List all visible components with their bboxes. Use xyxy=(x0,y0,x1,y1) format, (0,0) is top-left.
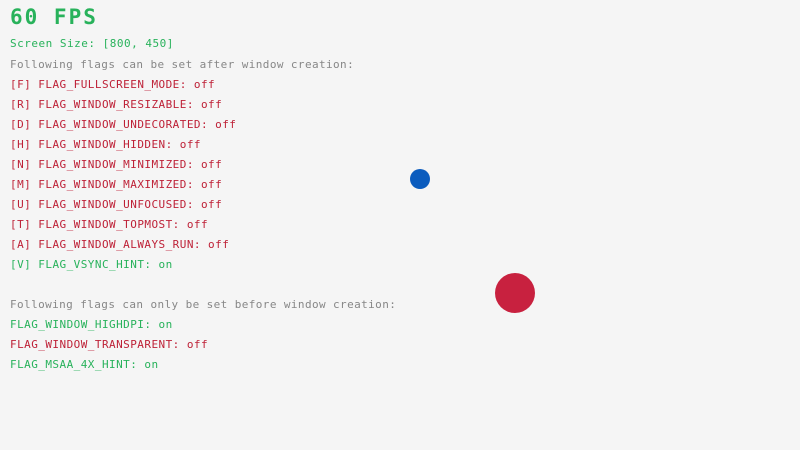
flag-name: FLAG_MSAA_4X_HINT: xyxy=(10,358,137,371)
flag-hotkey: [V] xyxy=(10,258,31,271)
flag-name: FLAG_WINDOW_ALWAYS_RUN: xyxy=(38,238,201,251)
flag-row[interactable]: [M] FLAG_WINDOW_MAXIMIZED: off xyxy=(10,179,222,190)
flag-hotkey: [U] xyxy=(10,198,31,211)
screen-size-label: Screen Size: [800, 450] xyxy=(10,38,174,49)
flag-state: off xyxy=(201,158,222,171)
raylib-window: 60 FPS Screen Size: [800, 450] Following… xyxy=(0,0,800,450)
flag-name: FLAG_WINDOW_MAXIMIZED: xyxy=(38,178,194,191)
flag-hotkey: [T] xyxy=(10,218,31,231)
flag-state: off xyxy=(201,198,222,211)
flag-name: FLAG_WINDOW_UNFOCUSED: xyxy=(38,198,194,211)
flag-row[interactable]: FLAG_WINDOW_HIGHDPI: on xyxy=(10,319,173,330)
flag-name: FLAG_VSYNC_HINT: xyxy=(38,258,151,271)
flag-state: off xyxy=(194,78,215,91)
after-creation-heading: Following flags can be set after window … xyxy=(10,59,354,70)
blue-ball xyxy=(410,169,430,189)
flag-name: FLAG_WINDOW_TRANSPARENT: xyxy=(10,338,180,351)
flag-row[interactable]: [H] FLAG_WINDOW_HIDDEN: off xyxy=(10,139,201,150)
flag-row[interactable]: [R] FLAG_WINDOW_RESIZABLE: off xyxy=(10,99,222,110)
flag-hotkey: [R] xyxy=(10,98,31,111)
flag-row[interactable]: FLAG_WINDOW_TRANSPARENT: off xyxy=(10,339,208,350)
flag-name: FLAG_FULLSCREEN_MODE: xyxy=(38,78,187,91)
fps-counter: 60 FPS xyxy=(10,7,98,28)
flag-row[interactable]: [N] FLAG_WINDOW_MINIMIZED: off xyxy=(10,159,222,170)
flag-state: off xyxy=(201,98,222,111)
flag-hotkey: [D] xyxy=(10,118,31,131)
flag-state: off xyxy=(187,338,208,351)
flag-row[interactable]: FLAG_MSAA_4X_HINT: on xyxy=(10,359,159,370)
flag-row[interactable]: [T] FLAG_WINDOW_TOPMOST: off xyxy=(10,219,208,230)
flag-name: FLAG_WINDOW_UNDECORATED: xyxy=(38,118,208,131)
red-ball xyxy=(495,273,535,313)
flag-state: on xyxy=(144,358,158,371)
flag-row[interactable]: [U] FLAG_WINDOW_UNFOCUSED: off xyxy=(10,199,222,210)
flag-hotkey: [F] xyxy=(10,78,31,91)
flag-state: off xyxy=(180,138,201,151)
flag-hotkey: [A] xyxy=(10,238,31,251)
flag-row[interactable]: [D] FLAG_WINDOW_UNDECORATED: off xyxy=(10,119,236,130)
flag-hotkey: [N] xyxy=(10,158,31,171)
flag-state: off xyxy=(201,178,222,191)
flag-row[interactable]: [A] FLAG_WINDOW_ALWAYS_RUN: off xyxy=(10,239,229,250)
flag-state: off xyxy=(208,238,229,251)
flag-state: on xyxy=(159,258,173,271)
flag-name: FLAG_WINDOW_HIGHDPI: xyxy=(10,318,151,331)
flag-state: on xyxy=(159,318,173,331)
flag-row[interactable]: [V] FLAG_VSYNC_HINT: on xyxy=(10,259,173,270)
flag-state: off xyxy=(215,118,236,131)
flag-hotkey: [H] xyxy=(10,138,31,151)
flag-state: off xyxy=(187,218,208,231)
flag-name: FLAG_WINDOW_HIDDEN: xyxy=(38,138,172,151)
flag-hotkey: [M] xyxy=(10,178,31,191)
flag-name: FLAG_WINDOW_TOPMOST: xyxy=(38,218,179,231)
flag-name: FLAG_WINDOW_MINIMIZED: xyxy=(38,158,194,171)
flag-row[interactable]: [F] FLAG_FULLSCREEN_MODE: off xyxy=(10,79,215,90)
flag-name: FLAG_WINDOW_RESIZABLE: xyxy=(38,98,194,111)
before-creation-heading: Following flags can only be set before w… xyxy=(10,299,396,310)
